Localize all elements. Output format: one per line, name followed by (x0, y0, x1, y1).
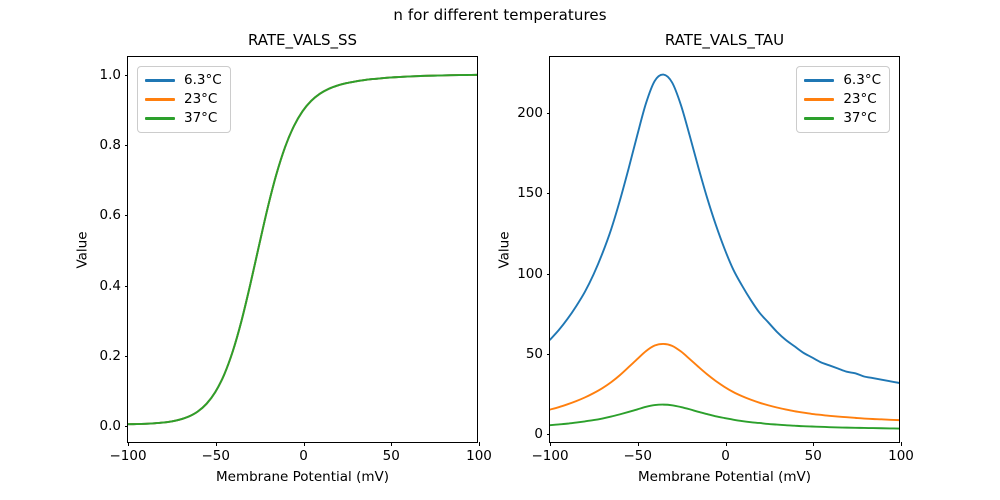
x-tick-mark (128, 442, 129, 446)
x-tick-label: 100 (888, 448, 914, 464)
y-tick-label: 0.8 (100, 137, 121, 153)
legend-label: 37°C (843, 112, 876, 126)
y-tick-label: 0 (534, 426, 543, 442)
subplot-title-left: RATE_VALS_SS (128, 31, 477, 49)
y-tick-mark (547, 113, 551, 114)
y-tick-label: 0.0 (100, 418, 121, 434)
legend-entry[interactable]: 23°C (804, 91, 881, 108)
x-tick-label: 50 (383, 448, 400, 464)
legend-color-swatch (804, 117, 834, 119)
y-tick-mark (547, 274, 551, 275)
x-tick-mark (726, 442, 727, 446)
x-tick-label: 0 (721, 448, 730, 464)
x-tick-mark (901, 442, 902, 446)
y-tick-mark (547, 434, 551, 435)
y-tick-label: 0.2 (100, 348, 121, 364)
y-tick-label: 50 (526, 346, 543, 362)
ylabel-right: Value (497, 231, 513, 268)
legend-label: 6.3°C (843, 74, 881, 88)
y-tick-mark (125, 145, 129, 146)
matplotlib-figure: n for different temperatures RATE_VALS_S… (0, 0, 1000, 500)
figure-suptitle: n for different temperatures (0, 6, 1000, 24)
y-tick-mark (125, 426, 129, 427)
legend-color-swatch (804, 98, 834, 100)
xlabel-right: Membrane Potential (mV) (550, 469, 899, 485)
y-tick-mark (547, 193, 551, 194)
legend-label: 37°C (184, 112, 217, 126)
y-tick-mark (125, 75, 129, 76)
x-tick-label: −50 (202, 448, 231, 464)
y-tick-mark (547, 354, 551, 355)
y-tick-mark (125, 356, 129, 357)
subplot-title-right: RATE_VALS_TAU (550, 31, 899, 49)
x-tick-label: 100 (466, 448, 492, 464)
axes-rate-vals-ss: RATE_VALS_SS Membrane Potential (mV) Val… (127, 56, 478, 443)
legend-color-swatch (804, 79, 834, 81)
y-tick-label: 0.6 (100, 207, 121, 223)
legend-entry[interactable]: 37°C (804, 110, 881, 127)
legend-entry[interactable]: 6.3°C (145, 72, 222, 89)
y-tick-mark (125, 286, 129, 287)
x-tick-mark (304, 442, 305, 446)
x-tick-label: 0 (299, 448, 308, 464)
x-tick-mark (638, 442, 639, 446)
x-tick-mark (216, 442, 217, 446)
x-tick-label: −100 (531, 448, 568, 464)
legend-label: 23°C (184, 93, 217, 107)
legend-color-swatch (145, 79, 175, 81)
y-tick-label: 0.4 (100, 278, 121, 294)
legend-label: 23°C (843, 93, 876, 107)
legend-color-swatch (145, 117, 175, 119)
y-tick-label: 100 (517, 266, 543, 282)
legend-color-swatch (145, 98, 175, 100)
x-tick-mark (391, 442, 392, 446)
legend-entry[interactable]: 23°C (145, 91, 222, 108)
legend-entry[interactable]: 6.3°C (804, 72, 881, 89)
y-tick-mark (125, 215, 129, 216)
xlabel-left: Membrane Potential (mV) (128, 469, 477, 485)
x-tick-mark (813, 442, 814, 446)
x-tick-label: 50 (805, 448, 822, 464)
y-tick-label: 1.0 (100, 67, 121, 83)
legend-label: 6.3°C (184, 74, 222, 88)
legend-left[interactable]: 6.3°C23°C37°C (137, 66, 231, 133)
axes-rate-vals-tau: RATE_VALS_TAU Membrane Potential (mV) Va… (549, 56, 900, 443)
ylabel-left: Value (75, 231, 91, 268)
x-tick-label: −100 (109, 448, 146, 464)
y-tick-label: 150 (517, 185, 543, 201)
series-line-2 (550, 344, 899, 420)
x-tick-label: −50 (624, 448, 653, 464)
x-tick-mark (479, 442, 480, 446)
x-tick-mark (550, 442, 551, 446)
y-tick-label: 200 (517, 105, 543, 121)
legend-right[interactable]: 6.3°C23°C37°C (796, 66, 890, 133)
legend-entry[interactable]: 37°C (145, 110, 222, 127)
